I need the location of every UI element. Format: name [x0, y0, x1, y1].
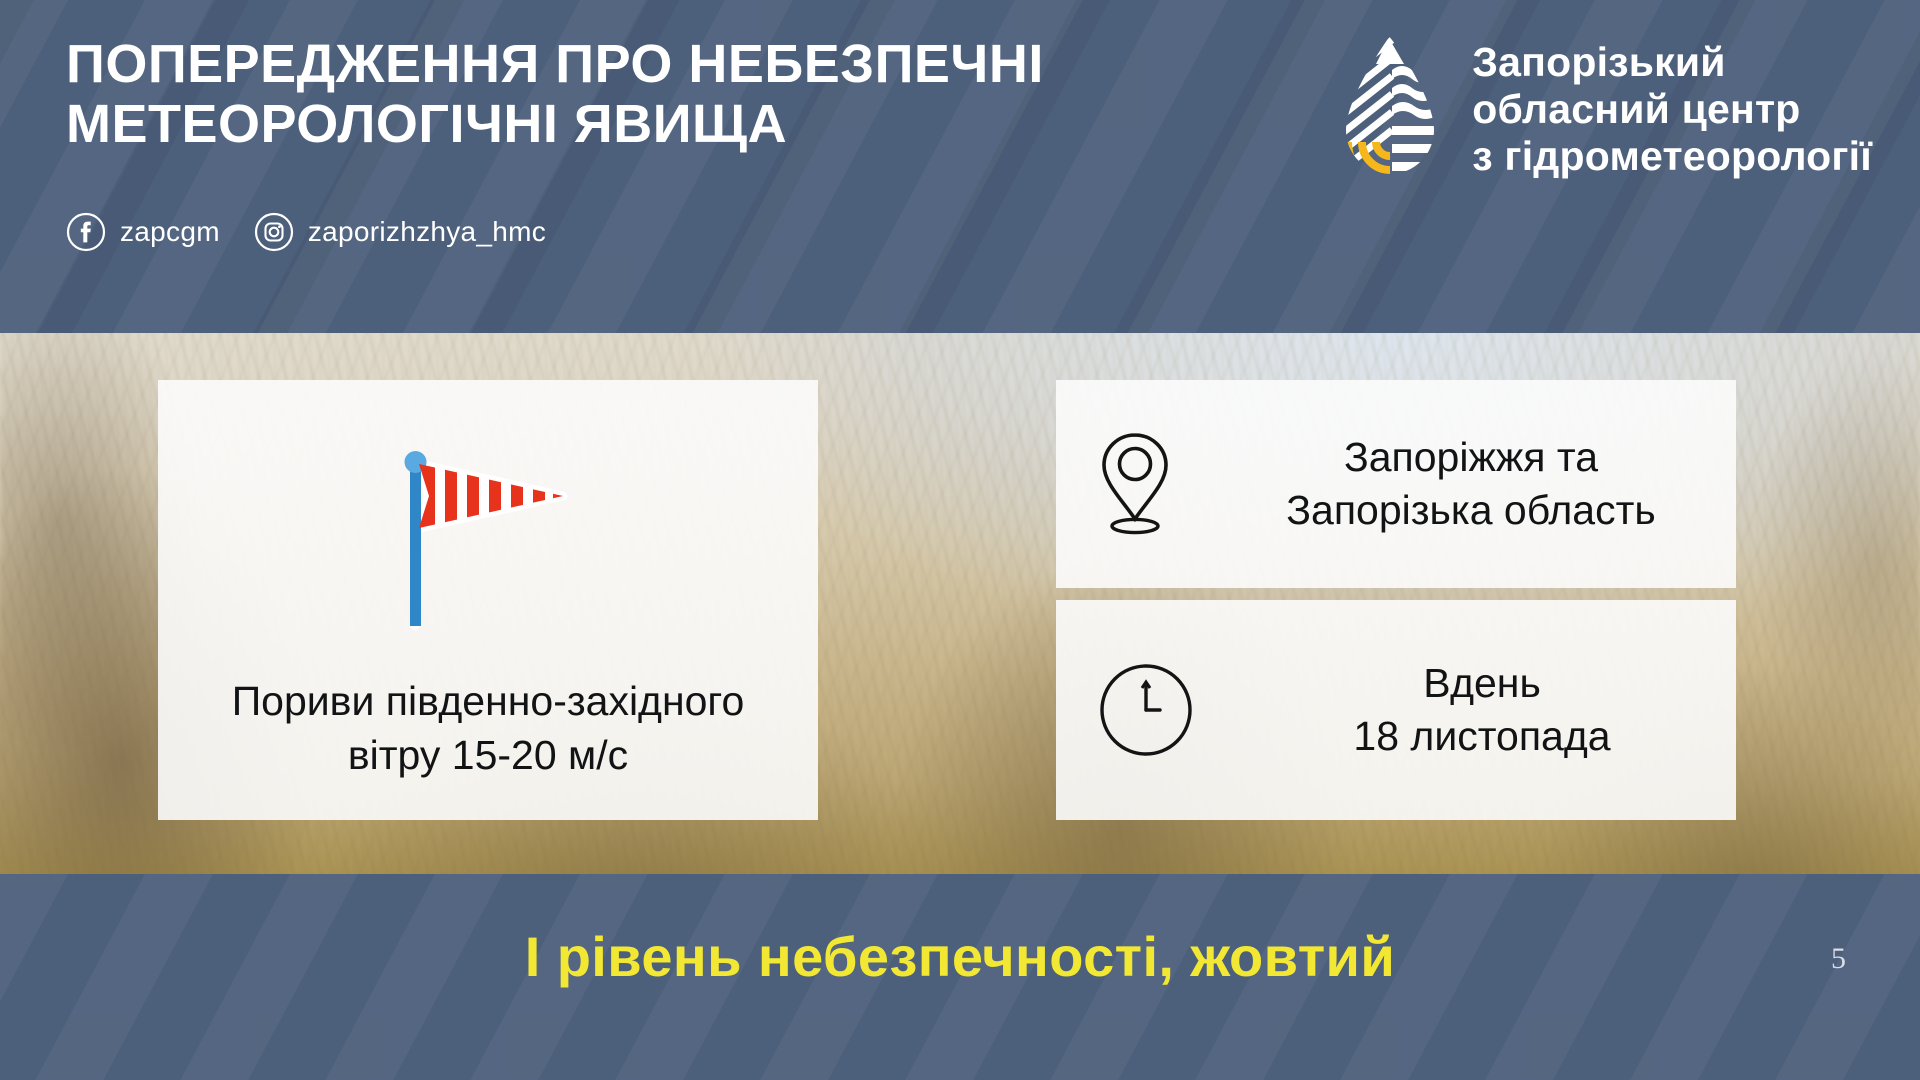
organization-name-line-3: з гідрометеорології — [1472, 133, 1872, 180]
location-pin-icon — [1098, 431, 1172, 537]
page-title: ПОПЕРЕДЖЕННЯ ПРО НЕБЕЗПЕЧНІ МЕТЕОРОЛОГІЧ… — [66, 34, 1256, 154]
facebook-handle: zapcgm — [120, 216, 220, 248]
social-links: zapcgm zaporizhzhya_hmc — [66, 212, 546, 252]
footer-band: І рівень небезпечності, жовтий 5 — [0, 874, 1920, 1080]
region-description-line-1: Запоріжжя та — [1206, 431, 1736, 484]
clock-icon — [1098, 662, 1194, 758]
social-instagram[interactable]: zaporizhzhya_hmc — [254, 212, 546, 252]
wind-description-line-1: Пориви південно-західного — [232, 674, 745, 728]
wind-description: Пориви південно-західного вітру 15-20 м/… — [204, 674, 773, 782]
region-card: Запоріжжя та Запорізька область — [1056, 380, 1736, 588]
instagram-icon — [254, 212, 294, 252]
organization-name-line-2: обласний центр — [1472, 86, 1872, 133]
organization-logo: Запорізький обласний центр з гідрометеор… — [1336, 34, 1872, 184]
page-title-line-1: ПОПЕРЕДЖЕННЯ ПРО НЕБЕЗПЕЧНІ — [66, 34, 1044, 94]
region-description-line-2: Запорізька область — [1206, 484, 1736, 537]
page-number: 5 — [1831, 942, 1846, 976]
page-title-line-2: МЕТЕОРОЛОГІЧНІ ЯВИЩА — [66, 94, 1256, 154]
instagram-handle: zaporizhzhya_hmc — [308, 216, 546, 248]
region-description: Запоріжжя та Запорізька область — [1206, 431, 1736, 537]
warning-level-text: І рівень небезпечності, жовтий — [0, 924, 1920, 989]
wind-warning-card: Пориви південно-західного вітру 15-20 м/… — [158, 380, 818, 820]
wind-flag-icon — [393, 440, 583, 640]
organization-name: Запорізький обласний центр з гідрометеор… — [1472, 39, 1872, 180]
time-card: Вдень 18 листопада — [1056, 600, 1736, 820]
header-band: ПОПЕРЕДЖЕННЯ ПРО НЕБЕЗПЕЧНІ МЕТЕОРОЛОГІЧ… — [0, 0, 1920, 333]
droplet-hydromet-logo-icon — [1336, 34, 1444, 184]
social-facebook[interactable]: zapcgm — [66, 212, 220, 252]
time-description: Вдень 18 листопада — [1228, 657, 1736, 763]
time-description-line-2: 18 листопада — [1228, 710, 1736, 763]
organization-name-line-1: Запорізький — [1472, 39, 1872, 86]
time-description-line-1: Вдень — [1228, 657, 1736, 710]
wind-description-line-2: вітру 15-20 м/с — [232, 728, 745, 782]
facebook-icon — [66, 212, 106, 252]
